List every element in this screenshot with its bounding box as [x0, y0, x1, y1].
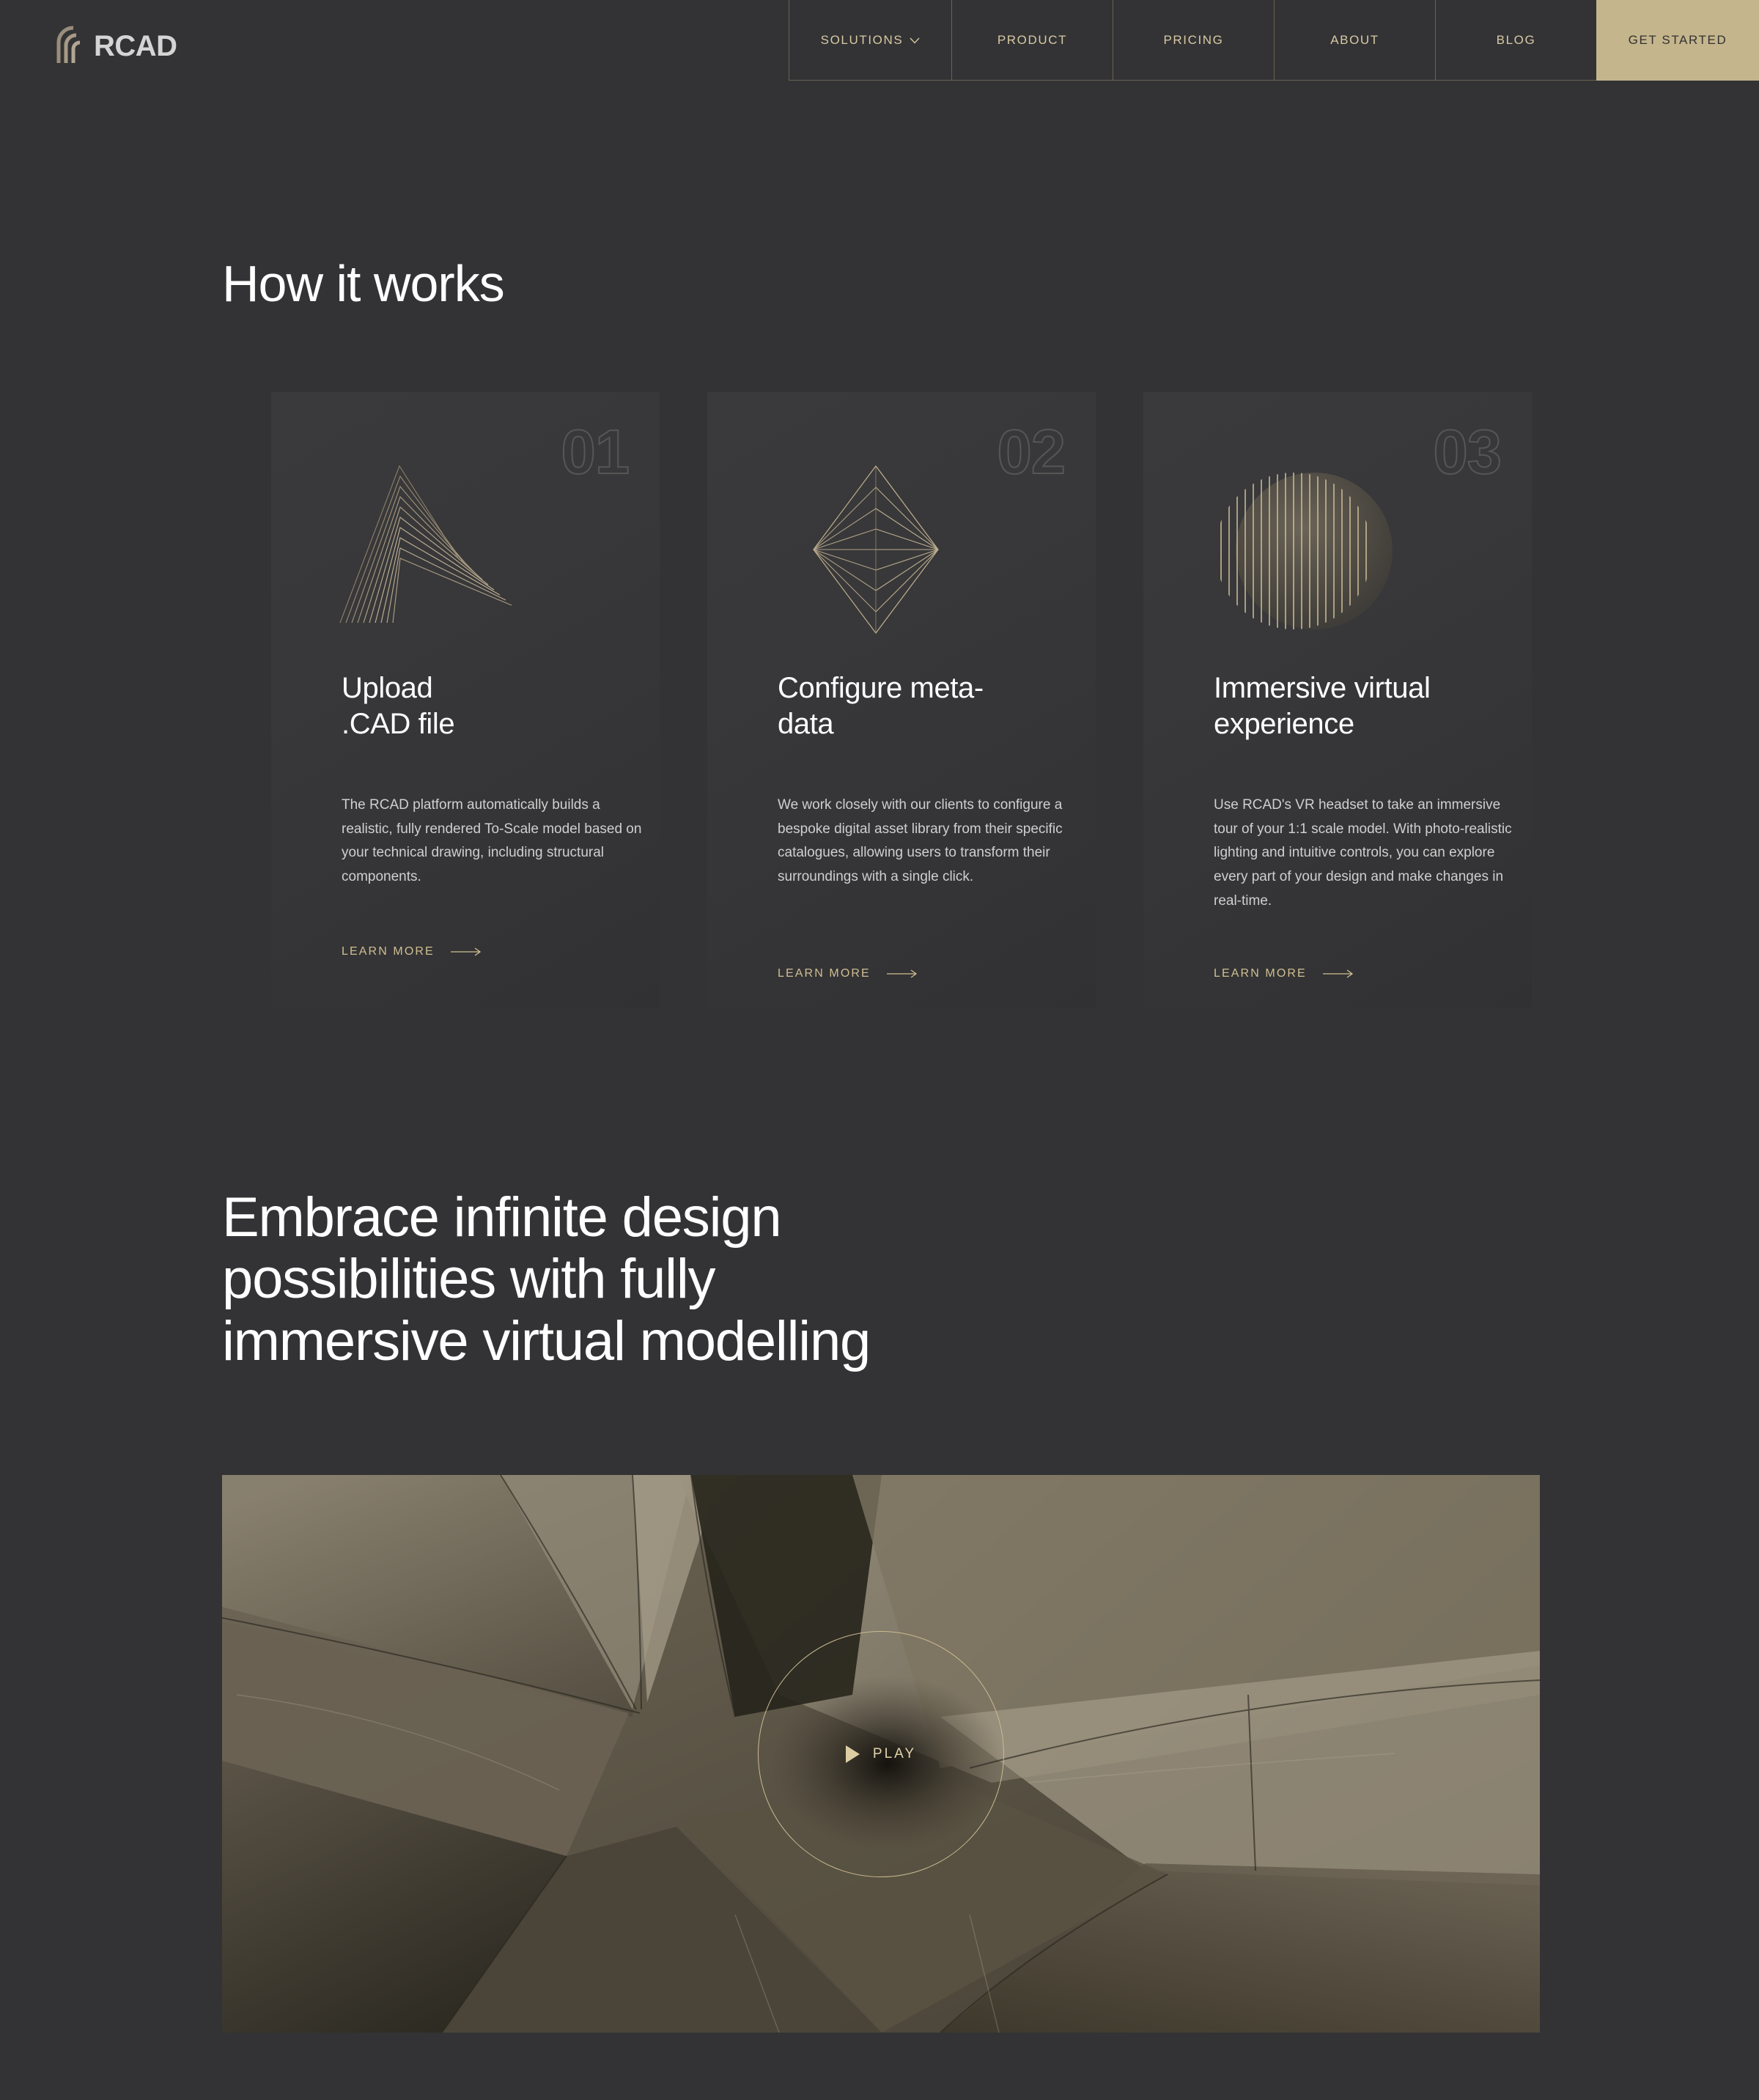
- learn-more-link[interactable]: LEARN MORE: [342, 945, 482, 958]
- diamond-linework-icon: [707, 447, 1096, 652]
- rcad-arcs-logo-icon: [53, 22, 95, 63]
- card-description: Use RCAD's VR headset to take an immersi…: [1214, 794, 1516, 913]
- card-immersive-virtual-experience[interactable]: 03: [1143, 392, 1532, 1008]
- nav-item-product[interactable]: PRODUCT: [951, 0, 1113, 81]
- arrow-right-icon: [451, 947, 482, 956]
- card-upload-cad-file[interactable]: 01 Upload .CAD file Th: [271, 392, 660, 1008]
- play-triangle-icon: [846, 1745, 860, 1763]
- card-title-line1: Configure meta-: [778, 672, 984, 704]
- nav-item-pricing-label: PRICING: [1163, 33, 1223, 48]
- nav-item-about[interactable]: ABOUT: [1274, 0, 1435, 81]
- learn-more-label: LEARN MORE: [342, 945, 435, 958]
- nav-item-blog-label: BLOG: [1497, 33, 1536, 48]
- learn-more-label: LEARN MORE: [778, 967, 871, 980]
- circle-stripes-icon: [1143, 447, 1532, 652]
- brand-logo[interactable]: RCAD: [53, 22, 177, 63]
- hero-heading: Embrace infinite design possibilities wi…: [222, 1187, 1102, 1372]
- arrow-right-icon: [1323, 969, 1354, 978]
- learn-more-label: LEARN MORE: [1214, 967, 1307, 980]
- play-button[interactable]: PLAY: [758, 1631, 1004, 1877]
- card-title-line2: data: [778, 708, 833, 740]
- video-player[interactable]: PLAY: [222, 1475, 1540, 2033]
- hero-line-1: Embrace infinite design: [222, 1186, 781, 1249]
- card-configure-meta-data[interactable]: 02: [707, 392, 1096, 1008]
- card-description: We work closely with our clients to conf…: [778, 794, 1080, 890]
- top-navigation-bar: RCAD SOLUTIONS PRODUCT PRICING ABOUT BLO…: [0, 0, 1759, 81]
- nav-item-pricing[interactable]: PRICING: [1113, 0, 1274, 81]
- arrow-right-icon: [887, 969, 918, 978]
- card-title: Configure meta- data: [778, 670, 1071, 742]
- section-title-how-it-works: How it works: [222, 258, 504, 309]
- chevron-down-icon: [910, 37, 920, 44]
- nav-items: SOLUTIONS PRODUCT PRICING ABOUT BLOG GET…: [789, 0, 1759, 81]
- how-it-works-cards: 01 Upload .CAD file Th: [271, 392, 1532, 1008]
- nav-item-about-label: ABOUT: [1330, 33, 1379, 48]
- hero-line-3: immersive virtual modelling: [222, 1310, 870, 1372]
- learn-more-link[interactable]: LEARN MORE: [1214, 967, 1354, 980]
- nav-item-solutions[interactable]: SOLUTIONS: [789, 0, 951, 81]
- nav-item-solutions-label: SOLUTIONS: [821, 33, 904, 48]
- hero-line-2: possibilities with fully: [222, 1248, 715, 1310]
- nav-item-product-label: PRODUCT: [997, 33, 1067, 48]
- card-title-line2: .CAD file: [342, 708, 454, 740]
- card-title-line2: experience: [1214, 708, 1354, 740]
- card-title-line1: Immersive virtual: [1214, 672, 1430, 704]
- learn-more-link[interactable]: LEARN MORE: [778, 967, 918, 980]
- play-button-label: PLAY: [873, 1746, 916, 1762]
- card-title: Upload .CAD file: [342, 670, 635, 742]
- chevron-linework-icon: [271, 447, 660, 652]
- nav-item-blog[interactable]: BLOG: [1435, 0, 1596, 81]
- brand-name: RCAD: [94, 32, 177, 63]
- card-description: The RCAD platform automatically builds a…: [342, 794, 644, 890]
- card-title-line1: Upload: [342, 672, 432, 704]
- get-started-button[interactable]: GET STARTED: [1596, 0, 1759, 81]
- get-started-label: GET STARTED: [1629, 33, 1727, 48]
- card-title: Immersive virtual experience: [1214, 670, 1507, 742]
